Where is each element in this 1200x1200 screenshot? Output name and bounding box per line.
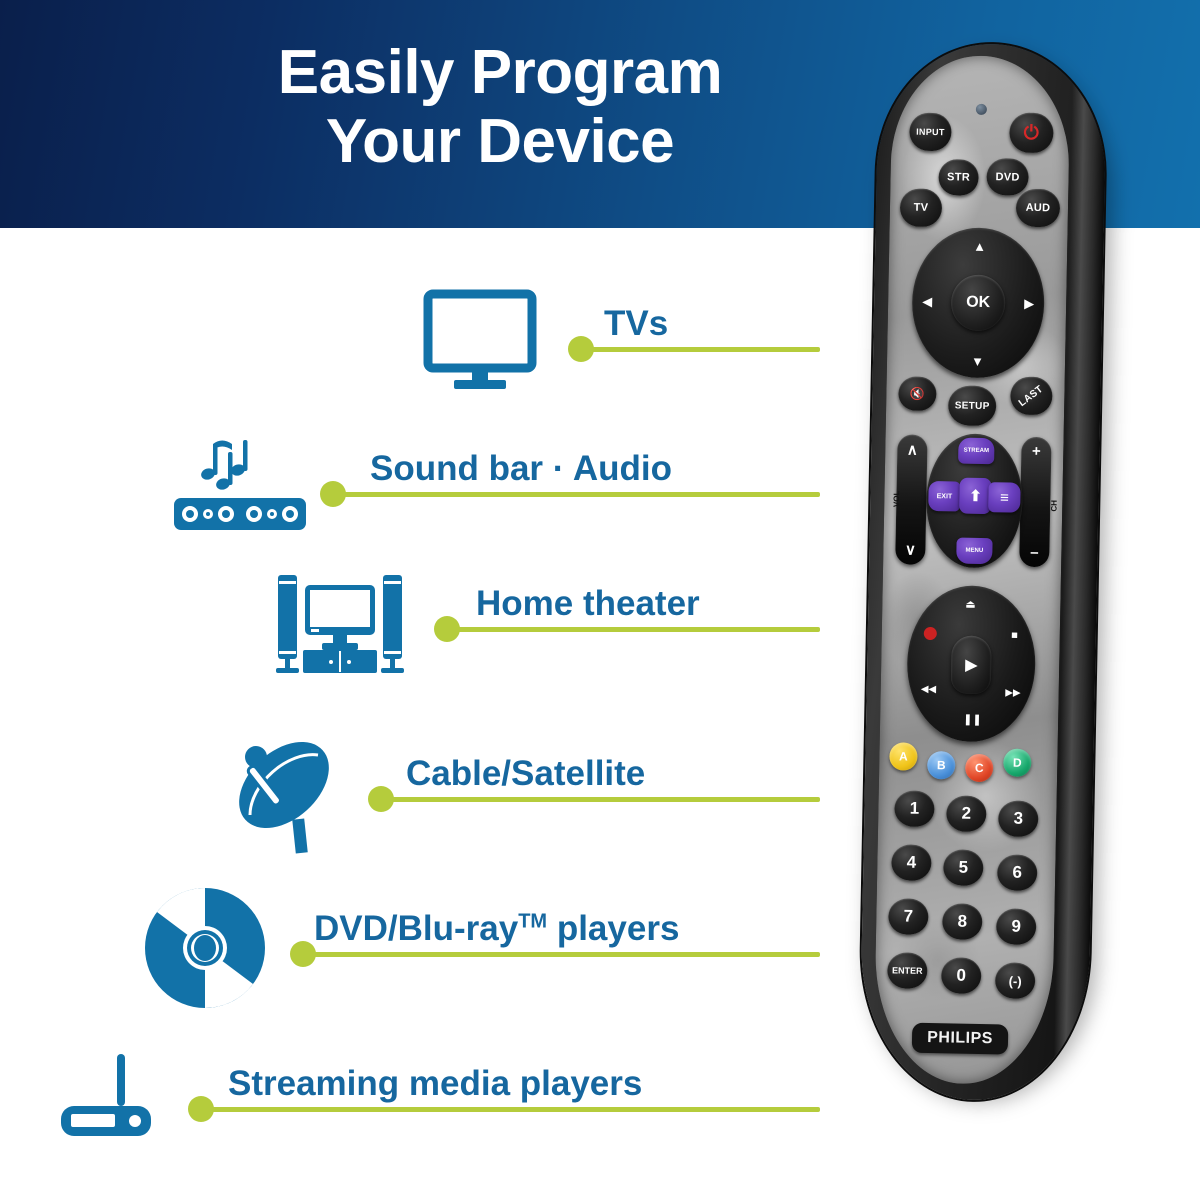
list-item: Home theater bbox=[0, 548, 860, 698]
remote-control: INPUT ⏻ STR DVD TV AUD ▲ ▼ ◀ ▶ OK 🔇 SETU… bbox=[845, 30, 1175, 1120]
feature-label: TVs bbox=[604, 304, 668, 344]
feature-label-tail: players bbox=[547, 909, 679, 948]
mute-icon: 🔇 bbox=[910, 387, 926, 401]
key-4[interactable]: 4 bbox=[891, 844, 932, 881]
key-3[interactable]: 3 bbox=[998, 800, 1039, 837]
home-button[interactable]: ⬆ bbox=[959, 478, 992, 515]
key-8[interactable]: 8 bbox=[942, 903, 983, 940]
list-item: DVD/Blu-rayTM players bbox=[0, 873, 860, 1023]
transport-ring: ⏏ ■ ◀◀ ▶▶ ❚❚ ▶ bbox=[906, 585, 1037, 743]
tv-icon bbox=[380, 268, 580, 418]
menu-button[interactable]: MENU bbox=[956, 537, 992, 564]
key-7[interactable]: 7 bbox=[888, 898, 929, 935]
remote-body: INPUT ⏻ STR DVD TV AUD ▲ ▼ ◀ ▶ OK 🔇 SETU… bbox=[859, 42, 1107, 1102]
remote-faceplate: INPUT ⏻ STR DVD TV AUD ▲ ▼ ◀ ▶ OK 🔇 SETU… bbox=[873, 54, 1071, 1085]
channel-rocker[interactable]: + – bbox=[1019, 437, 1051, 568]
key-2[interactable]: 2 bbox=[946, 795, 987, 832]
enter-button[interactable]: ENTER bbox=[887, 952, 928, 989]
eject-icon[interactable]: ⏏ bbox=[965, 600, 976, 611]
color-button-a[interactable]: A bbox=[889, 742, 918, 771]
record-button[interactable] bbox=[924, 627, 937, 640]
input-button[interactable]: INPUT bbox=[909, 113, 952, 152]
list-item: Streaming media players bbox=[0, 1028, 860, 1178]
play-button[interactable]: ▶ bbox=[951, 635, 992, 694]
rewind-icon[interactable]: ◀◀ bbox=[921, 685, 937, 695]
dpad[interactable]: ▲ ▼ ◀ ▶ OK bbox=[911, 227, 1046, 380]
list-icon: ≡ bbox=[1000, 489, 1009, 506]
connector-line bbox=[454, 627, 820, 632]
feature-label: Cable/Satellite bbox=[406, 754, 645, 794]
list-item: Cable/Satellite bbox=[0, 718, 860, 868]
feature-label: DVD/Blu-rayTM players bbox=[314, 909, 679, 949]
pause-icon[interactable]: ❚❚ bbox=[963, 715, 982, 726]
volume-up-icon[interactable]: ∧ bbox=[907, 441, 918, 459]
exit-button[interactable]: EXIT bbox=[928, 481, 961, 512]
forward-icon[interactable]: ▶▶ bbox=[1005, 688, 1021, 698]
last-label: LAST bbox=[1017, 383, 1045, 408]
channel-label: CH bbox=[1050, 500, 1059, 512]
list-item: TVs bbox=[0, 268, 860, 418]
soundbar-icon bbox=[140, 413, 340, 563]
stop-icon[interactable]: ■ bbox=[1011, 631, 1018, 642]
connector-line bbox=[208, 1107, 820, 1112]
satellite-dish-icon bbox=[190, 718, 390, 868]
trademark-superscript: TM bbox=[518, 910, 547, 932]
key-5[interactable]: 5 bbox=[943, 849, 984, 886]
volume-label: VOL bbox=[892, 491, 901, 508]
channel-down-icon[interactable]: – bbox=[1030, 544, 1039, 561]
tv-button[interactable]: TV bbox=[900, 188, 943, 227]
nav-cluster: STREAM EXIT ⬆ ≡ MENU bbox=[925, 433, 1024, 569]
feature-label: Sound bar · Audio bbox=[370, 449, 672, 489]
key-0[interactable]: 0 bbox=[941, 957, 982, 994]
dash-button[interactable]: (-) bbox=[995, 962, 1036, 999]
dpad-left-icon[interactable]: ◀ bbox=[922, 295, 932, 308]
last-button[interactable]: LAST bbox=[1010, 376, 1053, 415]
brand-badge: PHILIPS bbox=[912, 1023, 1009, 1055]
stream-button[interactable]: STREAM bbox=[958, 438, 994, 465]
dpad-up-icon[interactable]: ▲ bbox=[973, 240, 986, 253]
dpad-right-icon[interactable]: ▶ bbox=[1024, 297, 1034, 310]
color-button-c[interactable]: C bbox=[965, 754, 994, 783]
key-6[interactable]: 6 bbox=[997, 854, 1038, 891]
list-button[interactable]: ≡ bbox=[988, 482, 1021, 513]
channel-up-icon[interactable]: + bbox=[1032, 443, 1041, 460]
str-button[interactable]: STR bbox=[938, 159, 979, 196]
connector-line bbox=[388, 797, 820, 802]
connector-line bbox=[340, 492, 820, 497]
dvd-button[interactable]: DVD bbox=[986, 158, 1029, 196]
ok-button[interactable]: OK bbox=[951, 274, 1006, 331]
dpad-down-icon[interactable]: ▼ bbox=[971, 355, 984, 368]
feature-label: Home theater bbox=[476, 584, 700, 624]
color-button-d[interactable]: D bbox=[1003, 748, 1032, 777]
home-icon: ⬆ bbox=[969, 487, 982, 505]
power-button[interactable]: ⏻ bbox=[1009, 112, 1054, 153]
aud-button[interactable]: AUD bbox=[1016, 189, 1061, 228]
connector-line bbox=[588, 347, 820, 352]
volume-down-icon[interactable]: ∨ bbox=[905, 540, 916, 558]
list-item: Sound bar · Audio bbox=[0, 413, 860, 563]
power-icon: ⏻ bbox=[1024, 123, 1040, 142]
setup-button[interactable]: SETUP bbox=[948, 385, 997, 426]
feature-label: Streaming media players bbox=[228, 1064, 642, 1104]
key-1[interactable]: 1 bbox=[894, 790, 935, 827]
feature-label-main: DVD/Blu-ray bbox=[314, 909, 518, 948]
feature-list: TVs bbox=[0, 228, 860, 1200]
home-theater-icon bbox=[240, 548, 440, 698]
disc-icon bbox=[105, 873, 305, 1023]
color-button-b[interactable]: B bbox=[927, 751, 956, 780]
mute-button[interactable]: 🔇 bbox=[898, 376, 937, 411]
connector-line bbox=[310, 952, 820, 957]
key-9[interactable]: 9 bbox=[996, 908, 1037, 945]
ir-led-icon bbox=[976, 104, 987, 115]
